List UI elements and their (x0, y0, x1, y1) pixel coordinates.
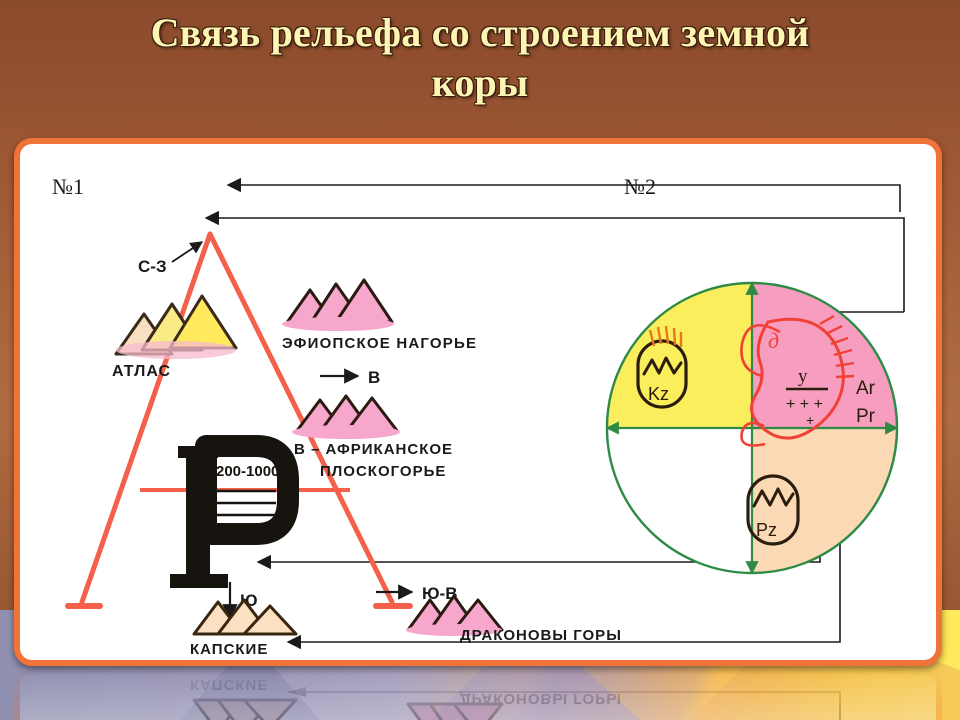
symbol-ar-text: Ar (856, 378, 876, 399)
symbol-glyph-u: у (798, 366, 808, 387)
reflection-label-cape: КАПСКИЕ (190, 676, 268, 693)
elevation-label: 200-1000 м (216, 463, 295, 480)
page-title: Связь рельефа со строением земной коры (0, 8, 960, 108)
mountain-label-cape: КАПСКИЕ (190, 641, 268, 658)
symbol-glyph-d: д (768, 328, 779, 353)
panel-1-label: №1 (52, 174, 84, 199)
reflection-canvas: КАПСКИЕ ДРАКОНОВЫ ГОРЫ (20, 674, 936, 720)
panel-2-label: №2 (624, 174, 656, 199)
mountain-ethiopian (282, 280, 394, 331)
direction-label-e: В (368, 368, 380, 387)
mountain-label-east-african-line1: В – АФРИКАНСКОЕ (294, 441, 453, 458)
diagram-frame: №1 №2 (14, 138, 942, 666)
symbol-pz-text: Pz (756, 520, 777, 540)
mountain-label-ethiopian: ЭФИОПСКОЕ НАГОРЬЕ (282, 335, 477, 352)
mountain-cape (194, 600, 296, 634)
frame-reflection: КАПСКИЕ ДРАКОНОВЫ ГОРЫ (14, 668, 942, 720)
diagram-canvas: №1 №2 (20, 144, 936, 660)
slide: Связь рельефа со строением земной коры №… (0, 0, 960, 720)
quadrant-kz (607, 283, 752, 428)
mountain-atlas (116, 296, 236, 359)
symbol-glyph-plus-lower: + (806, 412, 814, 428)
symbol-kz-text: Kz (648, 384, 669, 404)
reflection-content: КАПСКИЕ ДРАКОНОВЫ ГОРЫ (190, 676, 840, 720)
direction-label-nw: С-З (138, 257, 167, 276)
quadrant-ar-pr (752, 283, 897, 428)
symbol-glyph-plus: + + + (786, 396, 823, 413)
symbol-pr-text: Pr (856, 406, 876, 427)
direction-nw (172, 242, 202, 262)
mountain-label-drakensberg: ДРАКОНОВЫ ГОРЫ (460, 627, 622, 644)
mountain-label-atlas: АТЛАС (112, 363, 171, 380)
letter-r-relief: 200-1000 м (170, 446, 295, 588)
mountain-label-east-african-line2: ПЛОСКОГОРЬЕ (320, 463, 446, 480)
mountain-east-african (292, 396, 400, 439)
